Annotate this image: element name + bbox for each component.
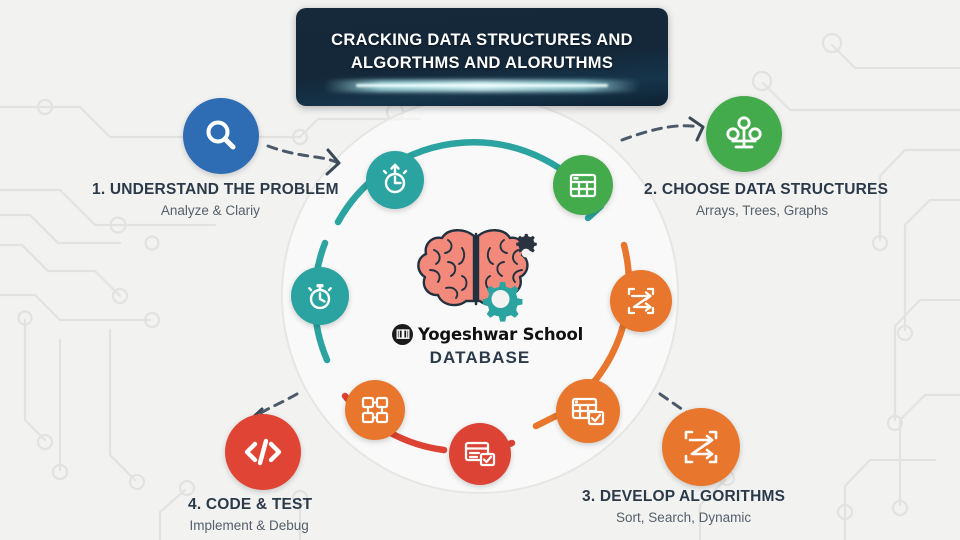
document-check-icon [461,435,499,473]
step-subtitle-3: Sort, Search, Dynamic [582,510,785,525]
expand-arrows-icon [622,282,660,320]
ring-icon-expand-arrows[interactable] [610,270,672,332]
brain-gears-graphic [404,222,554,332]
ring-icon-table-grid[interactable] [553,155,613,215]
ring-icon-document-check[interactable] [449,423,511,485]
step-badge-understand-the-problem[interactable] [183,98,259,174]
connector-2-3 [622,126,700,140]
ring-icon-clock-arrow[interactable] [366,151,424,209]
ring-icon-stopwatch[interactable] [291,267,349,325]
step-subtitle-2: Arrays, Trees, Graphs [644,203,888,218]
ring-icon-form-check[interactable] [556,379,620,443]
step-label-code-and-test: 4. CODE & TEST Implement & Debug [188,496,312,533]
step-title-4: 4. CODE & TEST [188,496,312,514]
search-icon [201,116,241,156]
step-label-develop-algorithms: 3. DEVELOP ALGORITHMS Sort, Search, Dyna… [582,488,785,525]
step-badge-develop-algorithms[interactable] [662,408,740,486]
infographic-canvas: CRACKING DATA STRUCTURES AND ALGORTHMS A… [0,0,960,540]
title-banner: CRACKING DATA STRUCTURES AND ALGORTHMS A… [296,8,668,106]
step-title-3: 3. DEVELOP ALGORITHMS [582,488,785,506]
step-badge-code-and-test[interactable] [225,414,301,490]
layout-blocks-icon [357,392,393,428]
shuffle-arrows-icon [679,425,723,469]
banner-title: CRACKING DATA STRUCTURES AND ALGORTHMS A… [296,29,668,75]
watermark: Yogeshwar School [392,323,582,345]
watermark-brand: Yogeshwar School [418,325,583,344]
gear-large-icon [483,282,523,322]
step-title-2: 2. CHOOSE DATA STRUCTURES [644,181,888,199]
ring-icon-layout-blocks[interactable] [345,380,405,440]
banner-title-line1: CRACKING DATA STRUCTURES AND [331,31,633,49]
center-label: DATABASE [0,348,960,368]
step-title-1: 1. UNDERSTAND THE PROBLEM [92,181,339,199]
tree-nodes-icon [723,113,765,155]
step-subtitle-1: Analyze & Clariy [92,203,339,218]
banner-title-line2: ALGORTHMS AND ALORUTHMS [351,54,613,72]
step-label-understand-the-problem: 1. UNDERSTAND THE PROBLEM Analyze & Clar… [92,181,339,218]
form-check-icon [568,391,608,431]
clock-arrow-icon [377,162,413,198]
stopwatch-icon [302,278,338,314]
code-brackets-icon [241,432,285,472]
table-grid-icon [565,167,601,203]
banner-glow-core [356,84,608,87]
book-logo-icon [392,324,413,345]
step-badge-choose-data-structures[interactable] [706,96,782,172]
step-subtitle-4: Implement & Debug [188,518,312,533]
step-label-choose-data-structures: 2. CHOOSE DATA STRUCTURES Arrays, Trees,… [644,181,888,218]
connector-1-2 [268,146,336,162]
